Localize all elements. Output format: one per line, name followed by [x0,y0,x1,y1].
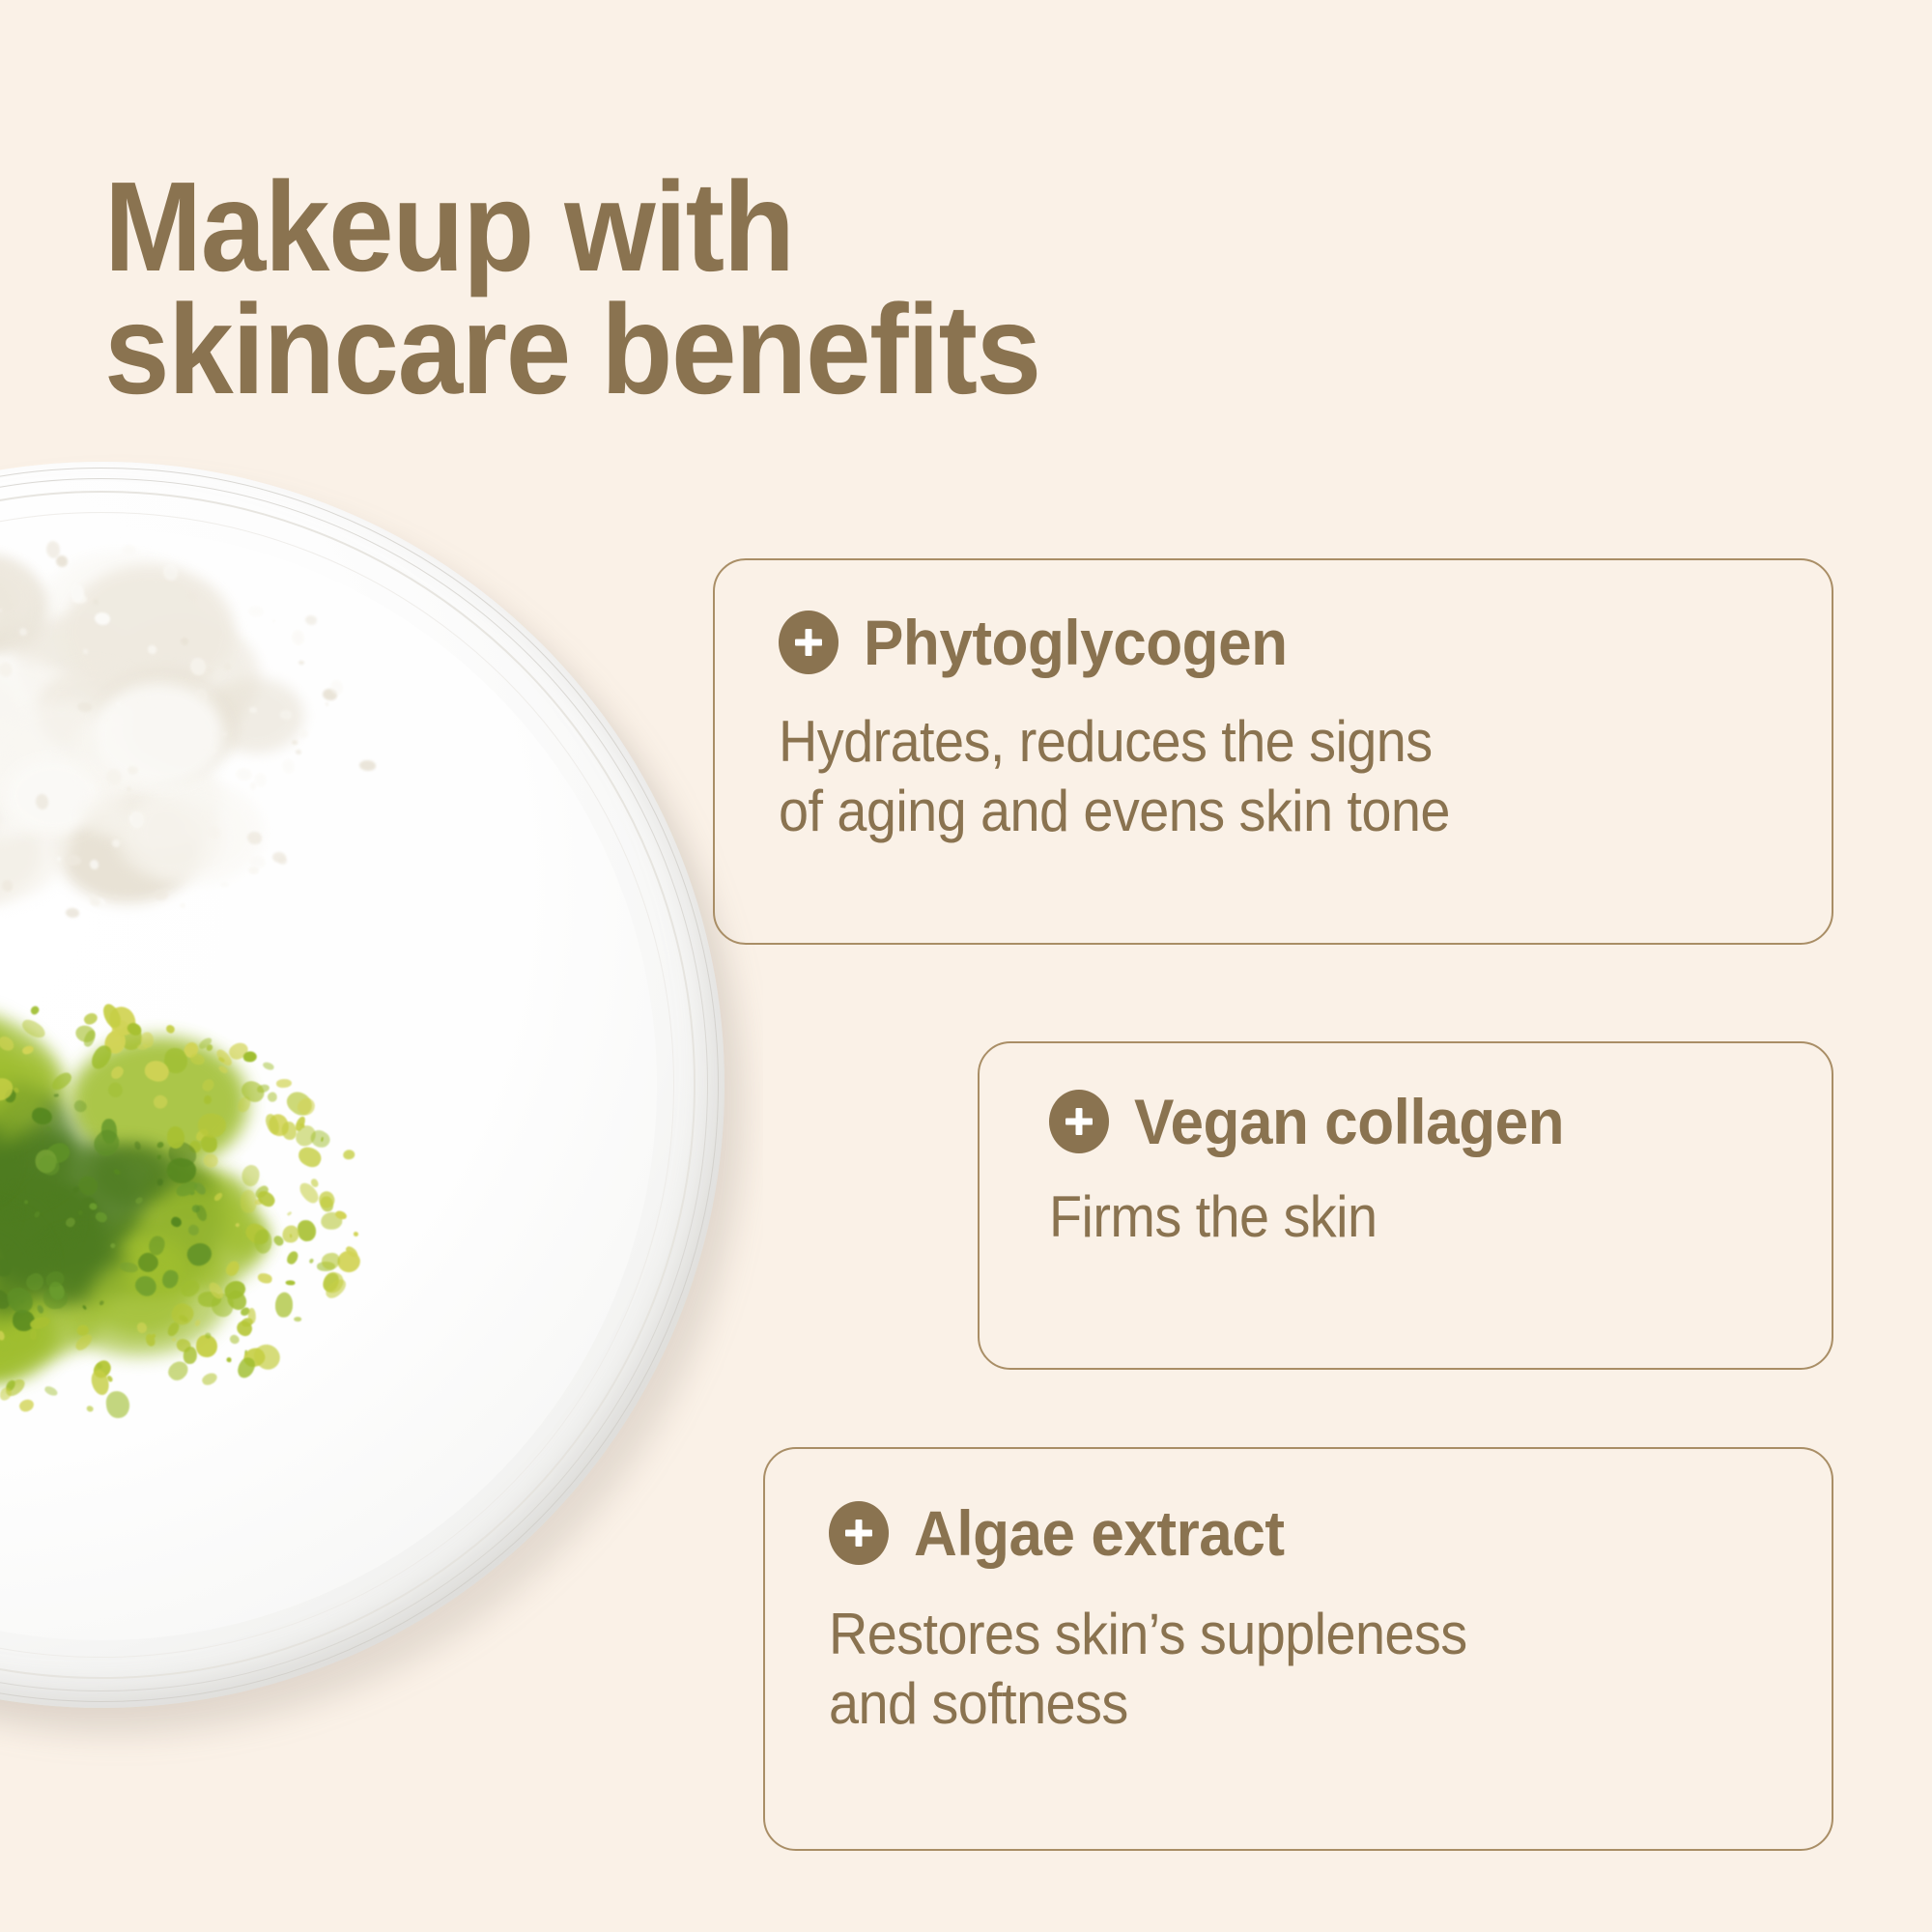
benefit-card-algae-extract[interactable]: Algae extract Restores skin’s suppleness… [763,1447,1833,1851]
plus-icon [1049,1090,1109,1153]
benefit-card-content: Vegan collagen Firms the skin [1049,1090,1787,1252]
benefit-card-header: Vegan collagen [1049,1090,1787,1153]
benefit-description: Restores skin’s suppleness and softness [829,1600,1720,1739]
benefit-card-header: Phytoglycogen [779,611,1787,674]
plus-icon [779,611,838,674]
benefit-description-line: and softness [829,1671,1128,1736]
benefit-description: Firms the skin [1049,1182,1736,1252]
benefit-card-phytoglycogen[interactable]: Phytoglycogen Hydrates, reduces the sign… [713,558,1833,945]
benefit-title: Vegan collagen [1134,1090,1564,1153]
benefit-title: Phytoglycogen [864,611,1288,674]
benefit-card-content: Algae extract Restores skin’s suppleness… [829,1501,1787,1739]
benefit-description: Hydrates, reduces the signs of aging and… [779,707,1717,846]
benefit-card-content: Phytoglycogen Hydrates, reduces the sign… [779,611,1787,846]
page-title: Makeup with skincare benefits [104,166,1207,411]
benefit-card-header: Algae extract [829,1501,1787,1565]
page-title-line-2: skincare benefits [104,289,1207,412]
benefit-description-line: of aging and evens skin tone [779,779,1450,843]
ceramic-plate [0,462,724,1708]
benefit-description-line: Hydrates, reduces the signs [779,709,1433,774]
benefit-title: Algae extract [914,1501,1285,1565]
benefit-description-line: Firms the skin [1049,1184,1377,1249]
benefit-card-vegan-collagen[interactable]: Vegan collagen Firms the skin [978,1041,1833,1370]
promo-graphic: Makeup with skincare benefits Phytoglyco… [0,0,1932,1932]
page-title-line-1: Makeup with [104,166,1207,289]
benefit-description-line: Restores skin’s suppleness [829,1602,1467,1666]
plus-icon [829,1501,889,1565]
